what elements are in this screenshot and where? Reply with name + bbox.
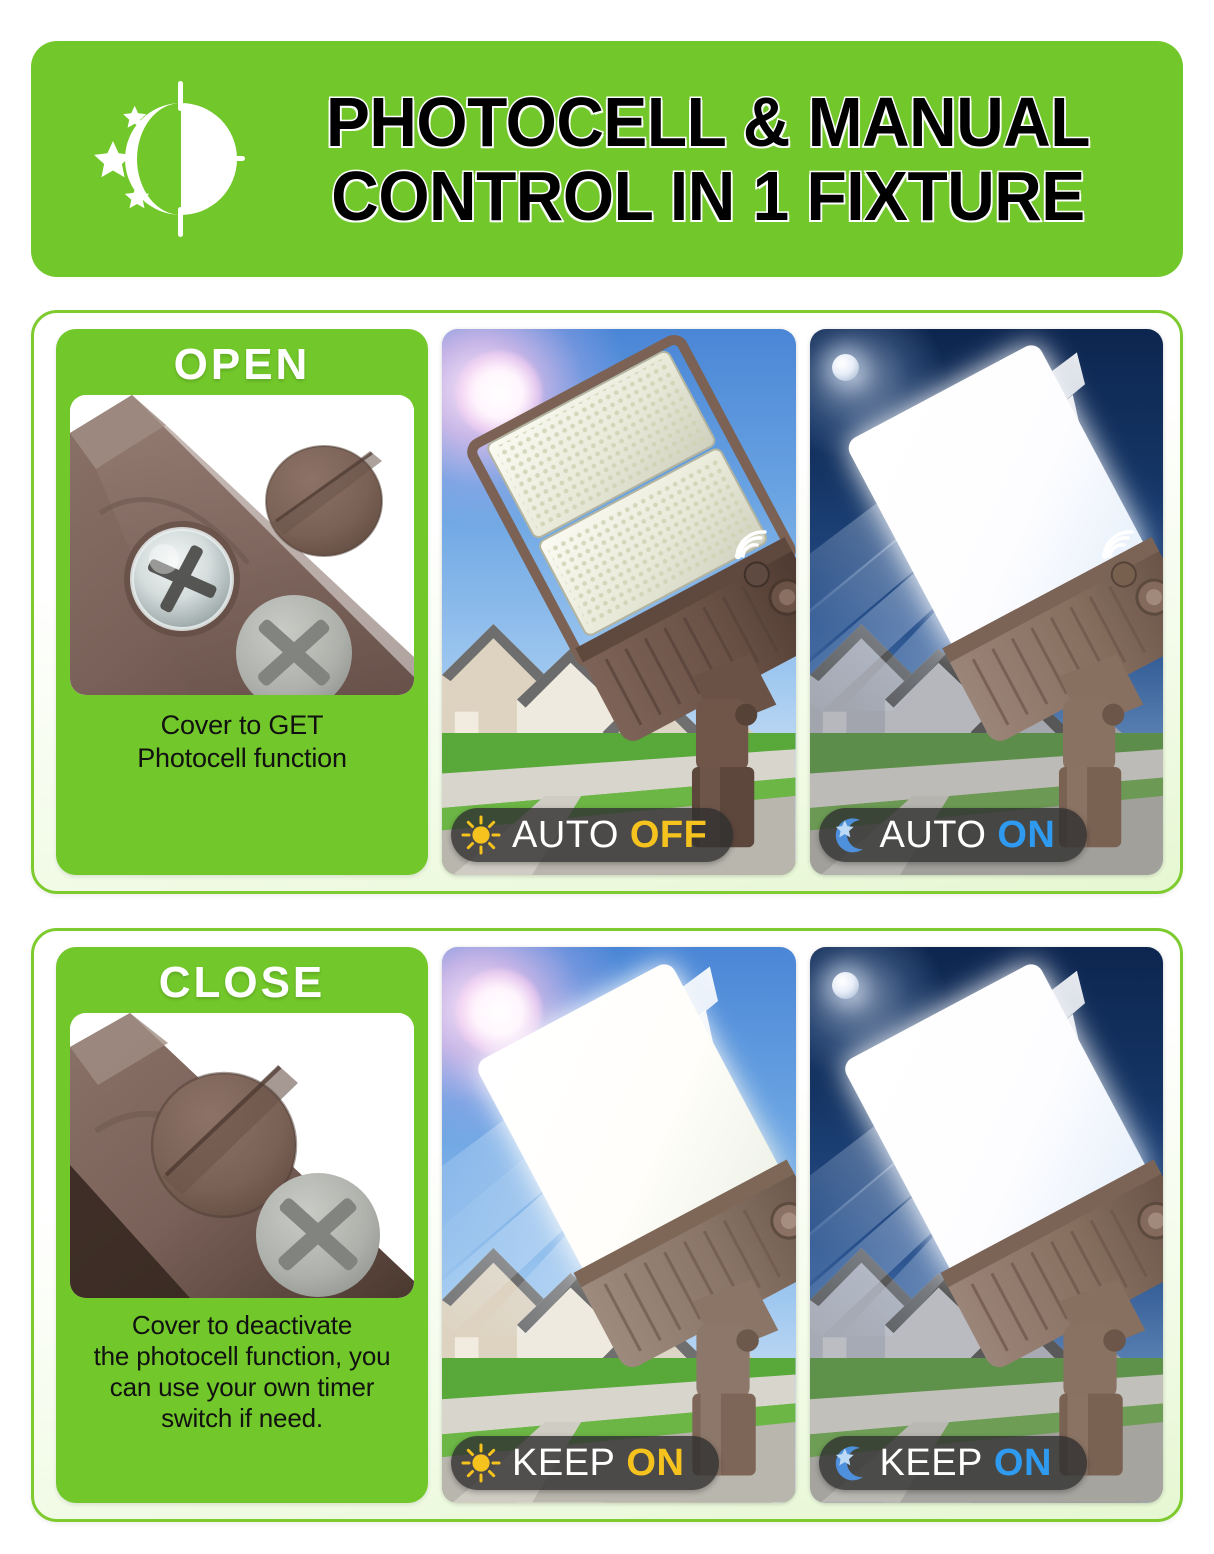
photo-keep-on-night: KEEP ON [810,947,1164,1503]
photo-auto-off-day: AUTO OFF [442,329,796,875]
close-card-title: CLOSE [159,957,326,1009]
status-state: ON [626,1442,684,1485]
photocell-signal-icon [1098,526,1138,560]
close-info-card: CLOSE [56,947,428,1503]
status-badge-text: AUTO ON [880,814,1056,857]
status-badge-auto-off: AUTO OFF [451,808,733,862]
led-street-light-fixture [901,345,1163,847]
status-label: AUTO [512,814,619,857]
status-badge-text: KEEP ON [880,1442,1052,1485]
header-title-line-2: CONTROL IN 1 FIXTURE [286,159,1130,233]
status-badge-text: AUTO OFF [512,814,707,857]
header-title: PHOTOCELL & MANUAL CONTROL IN 1 FIXTURE [255,85,1157,233]
close-caption-line-4: switch if need. [94,1403,391,1434]
header-banner: PHOTOCELL & MANUAL CONTROL IN 1 FIXTURE [31,41,1183,277]
status-badge-auto-on: AUTO ON [819,808,1087,862]
status-state: ON [997,814,1055,857]
moon-star-icon [829,1443,869,1483]
section-close: CLOSE [31,928,1183,1522]
sun-icon [461,815,501,855]
sun-icon [461,1443,501,1483]
photocell-cap-installed-closeup [70,1013,414,1298]
status-label: AUTO [880,814,987,857]
moon-star-icon [829,815,869,855]
close-caption-line-2: the photocell function, you [94,1341,391,1372]
status-badge-text: KEEP ON [512,1442,684,1485]
open-info-card: OPEN [56,329,428,875]
open-card-caption: Cover to GET Photocell function [137,709,347,775]
open-caption-line-1: Cover to GET [137,709,347,742]
status-badge-keep-on-night: KEEP ON [819,1436,1087,1490]
moon-icon [832,354,859,381]
photo-keep-on-day: KEEP ON [442,947,796,1503]
photocell-signal-icon [731,526,771,560]
led-street-light-fixture [901,964,1163,1476]
led-street-light-fixture [534,964,796,1476]
led-street-light-fixture [534,345,796,847]
status-state: OFF [630,814,707,857]
section-open: OPEN [31,310,1183,894]
open-card-title: OPEN [174,339,311,391]
close-caption-line-1: Cover to deactivate [94,1310,391,1341]
status-label: KEEP [512,1442,615,1485]
day-night-sun-moon-icon [87,75,255,243]
header-title-line-1: PHOTOCELL & MANUAL [286,85,1130,159]
status-badge-keep-on-day: KEEP ON [451,1436,719,1490]
status-label: KEEP [880,1442,983,1485]
open-caption-line-2: Photocell function [137,742,347,775]
status-state: ON [994,1442,1052,1485]
photocell-cap-removed-closeup [70,395,414,695]
photo-auto-on-night: AUTO ON [810,329,1164,875]
close-card-caption: Cover to deactivate the photocell functi… [94,1310,391,1435]
close-caption-line-3: can use your own timer [94,1372,391,1403]
